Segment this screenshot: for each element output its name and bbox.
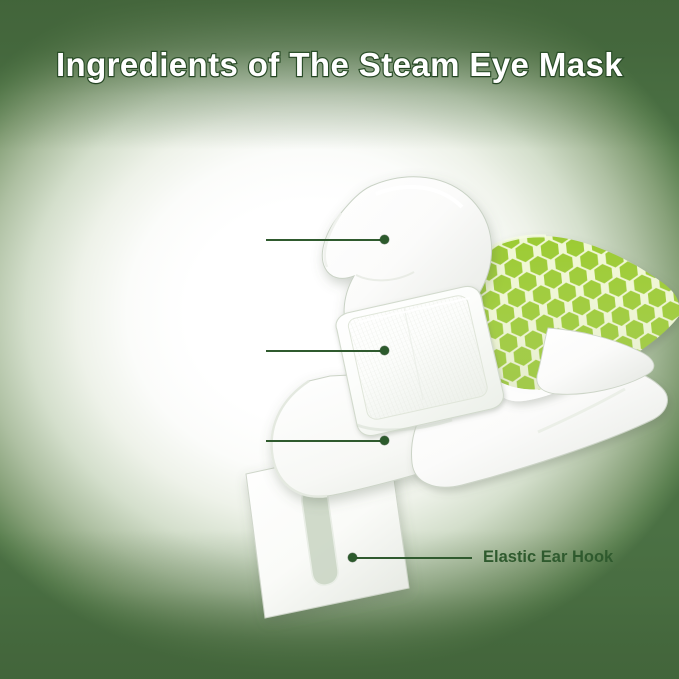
- page-title: Ingredients of The Steam Eye Mask: [0, 46, 679, 84]
- leader-dot: [380, 235, 389, 244]
- leader-line: [266, 239, 384, 241]
- leader-line: [266, 350, 384, 352]
- leader-dot: [380, 436, 389, 445]
- leader-dot: [380, 346, 389, 355]
- callout-label: Elastic Ear Hook: [483, 547, 613, 569]
- product-illustration: [0, 0, 679, 679]
- leader-line: [266, 440, 384, 442]
- leader-line: [354, 557, 472, 559]
- callout-label-line1: Elastic Ear Hook: [483, 547, 613, 569]
- leader-dot: [348, 553, 357, 562]
- infographic-canvas: Ingredients of The Steam Eye Mask Upper …: [0, 0, 679, 679]
